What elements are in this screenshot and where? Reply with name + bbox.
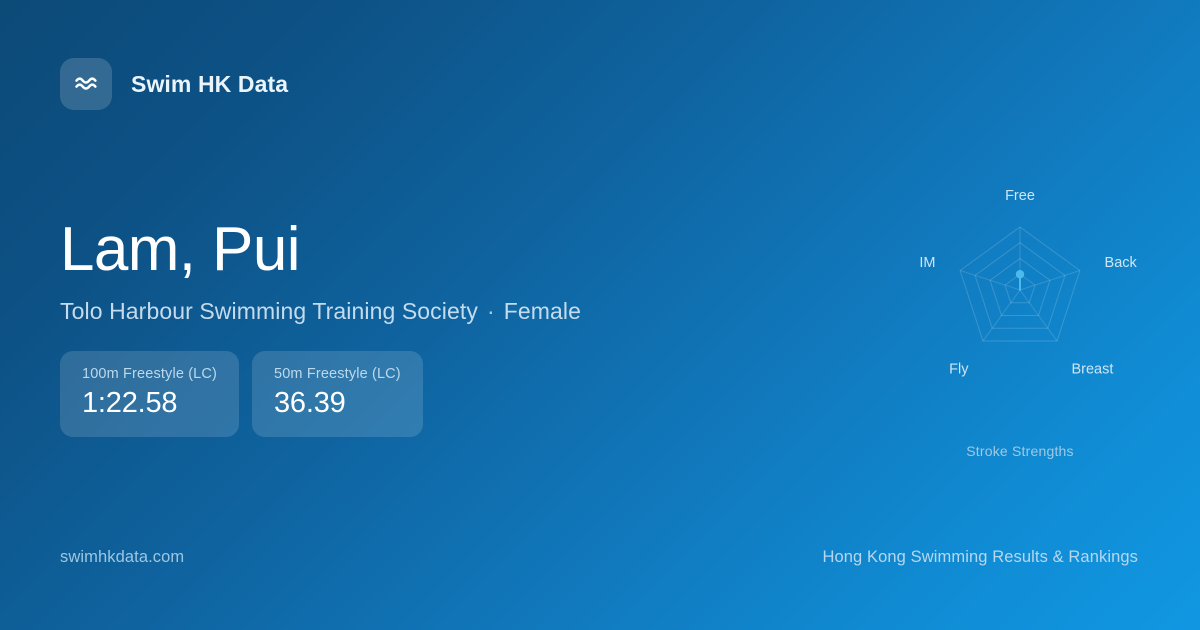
athlete-meta: Tolo Harbour Swimming Training Society·F… bbox=[60, 298, 581, 325]
athlete-gender: Female bbox=[504, 298, 581, 324]
radar-axis-label-back: Back bbox=[1105, 255, 1138, 271]
radar-axis-label-free: Free bbox=[1005, 188, 1035, 204]
radar-svg: FreeBackBreastFlyIM bbox=[880, 170, 1160, 470]
wave-icon bbox=[71, 69, 101, 99]
athlete-club: Tolo Harbour Swimming Training Society bbox=[60, 298, 478, 324]
page-title: Lam, Pui bbox=[60, 218, 581, 282]
radar-axis-label-fly: Fly bbox=[949, 362, 969, 378]
stat-card[interactable]: 50m Freestyle (LC) 36.39 bbox=[252, 351, 423, 437]
radar-axis-label-breast: Breast bbox=[1071, 362, 1113, 378]
stat-card-list: 100m Freestyle (LC) 1:22.58 50m Freestyl… bbox=[60, 351, 423, 437]
radar-data-point bbox=[1016, 270, 1024, 278]
stat-card[interactable]: 100m Freestyle (LC) 1:22.58 bbox=[60, 351, 239, 437]
stat-value: 1:22.58 bbox=[82, 387, 217, 420]
hero-section: Lam, Pui Tolo Harbour Swimming Training … bbox=[60, 218, 581, 325]
brand-header[interactable]: Swim HK Data bbox=[60, 58, 288, 110]
stat-value: 36.39 bbox=[274, 387, 401, 420]
og-share-card: Swim HK Data Lam, Pui Tolo Harbour Swimm… bbox=[0, 0, 1200, 630]
brand-logo bbox=[60, 58, 112, 110]
meta-separator: · bbox=[478, 298, 504, 325]
stat-label: 50m Freestyle (LC) bbox=[274, 366, 401, 382]
radar-series bbox=[1016, 270, 1024, 290]
radar-axis-label-im: IM bbox=[919, 255, 935, 271]
stat-label: 100m Freestyle (LC) bbox=[82, 366, 217, 382]
stroke-strengths-radar-chart: FreeBackBreastFlyIM Stroke Strengths bbox=[880, 170, 1160, 470]
radar-axis-labels: FreeBackBreastFlyIM bbox=[919, 188, 1137, 378]
brand-name: Swim HK Data bbox=[131, 71, 288, 98]
chart-caption: Stroke Strengths bbox=[880, 443, 1160, 459]
footer-tagline: Hong Kong Swimming Results & Rankings bbox=[822, 548, 1138, 567]
footer-site-url[interactable]: swimhkdata.com bbox=[60, 548, 184, 567]
